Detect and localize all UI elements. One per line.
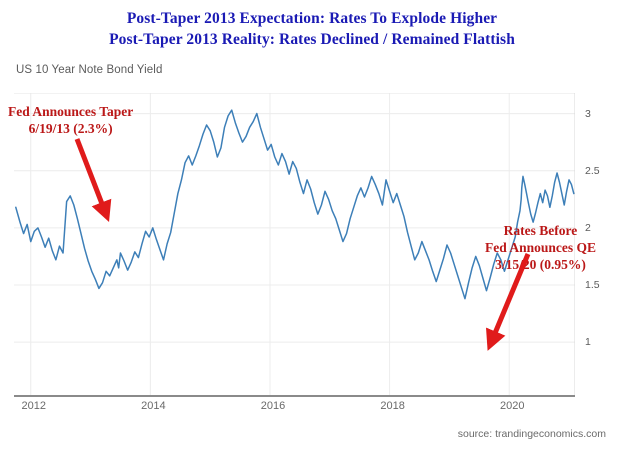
y-axis-tick-label: 2.5 bbox=[585, 165, 600, 177]
y-axis-tick-label: 1.5 bbox=[585, 279, 600, 291]
x-axis-tick-label: 2012 bbox=[21, 400, 45, 412]
annotation-qe-line-2: Fed Announces QE bbox=[485, 239, 596, 256]
annotation-fed-qe: Rates Before Fed Announces QE 3/15/20 (0… bbox=[485, 222, 596, 273]
y-axis-tick-label: 3 bbox=[585, 108, 591, 120]
x-axis-tick-label: 2020 bbox=[500, 400, 524, 412]
annotation-qe-line-1: Rates Before bbox=[485, 222, 596, 239]
chart-subtitle: US 10 Year Note Bond Yield bbox=[16, 64, 162, 76]
annotation-taper-line-2: 6/19/13 (2.3%) bbox=[8, 120, 133, 137]
vertical-gridlines bbox=[31, 93, 509, 397]
x-axis-tick-label: 2014 bbox=[141, 400, 165, 412]
title-line-1: Post-Taper 2013 Expectation: Rates To Ex… bbox=[0, 8, 624, 29]
chart-page: Post-Taper 2013 Expectation: Rates To Ex… bbox=[0, 0, 624, 468]
x-axis-tick-label: 2018 bbox=[380, 400, 404, 412]
source-credit: source: trandingeconomics.com bbox=[458, 428, 606, 440]
annotation-fed-taper: Fed Announces Taper 6/19/13 (2.3%) bbox=[8, 103, 133, 137]
y-axis-tick-label: 1 bbox=[585, 336, 591, 348]
page-title: Post-Taper 2013 Expectation: Rates To Ex… bbox=[0, 8, 624, 50]
title-line-2: Post-Taper 2013 Reality: Rates Declined … bbox=[0, 29, 624, 50]
annotation-taper-line-1: Fed Announces Taper bbox=[8, 103, 133, 120]
x-axis-tick-label: 2016 bbox=[261, 400, 285, 412]
annotation-qe-line-3: 3/15/20 (0.95%) bbox=[485, 256, 596, 273]
